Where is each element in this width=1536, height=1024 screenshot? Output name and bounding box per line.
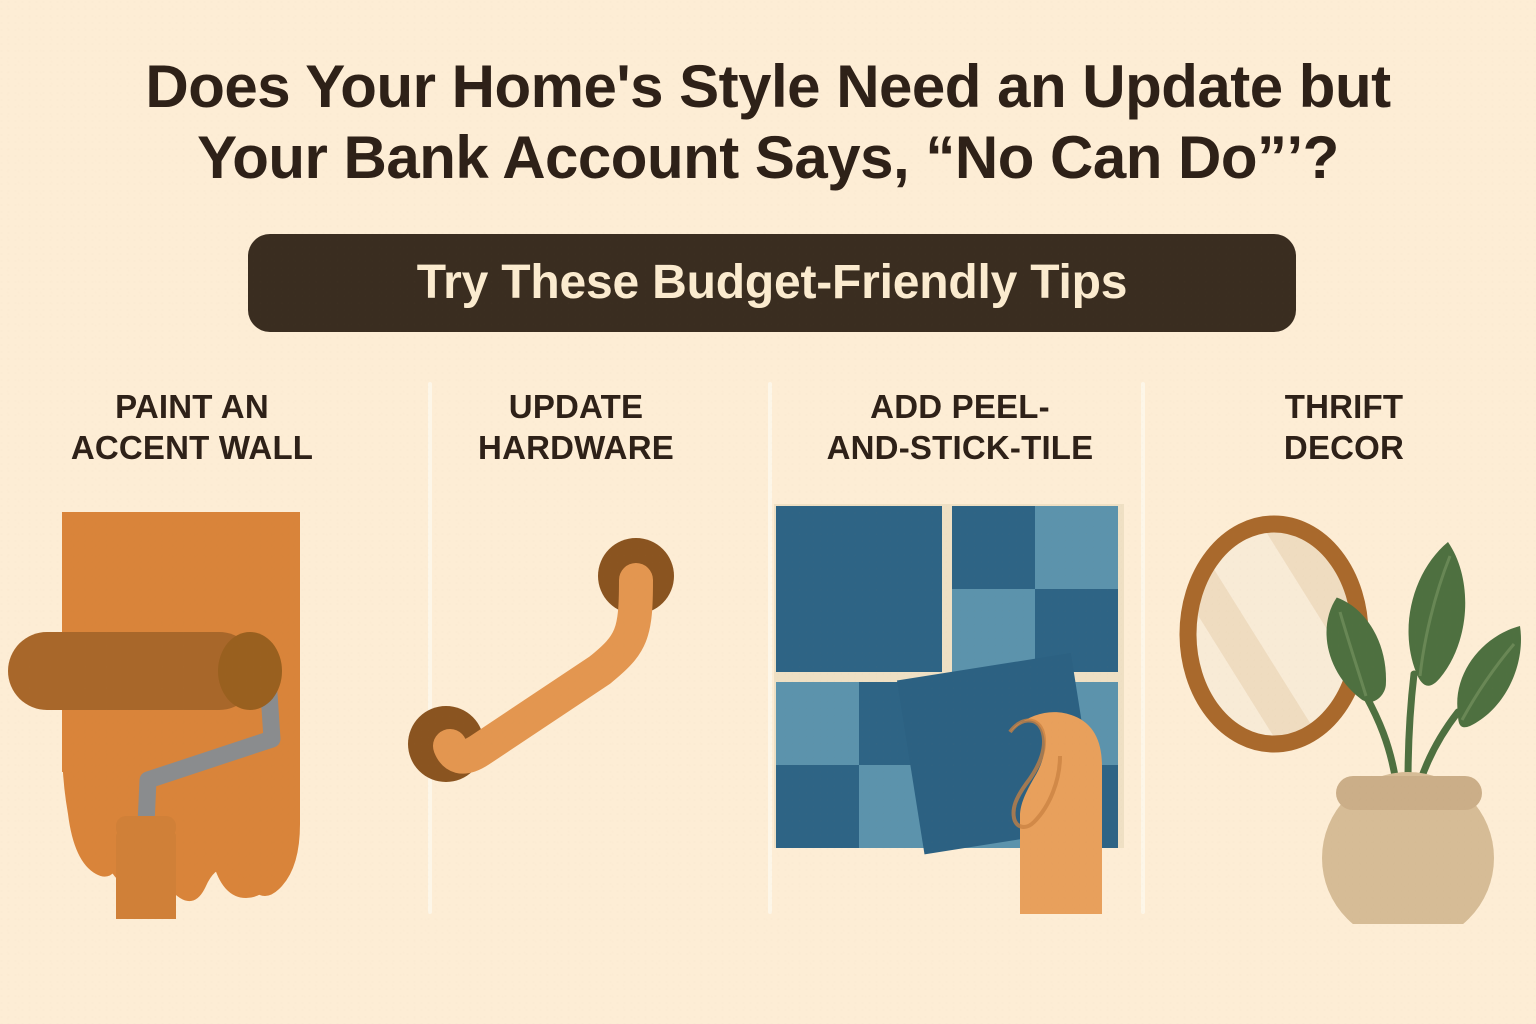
paint-roller-icon bbox=[0, 494, 384, 924]
tip-title-update-hardware: UPDATE HARDWARE bbox=[384, 386, 768, 469]
tips-row: PAINT AN ACCENT WALL bbox=[0, 376, 1536, 936]
infographic-poster: Does Your Home's Style Need an Update bu… bbox=[0, 0, 1536, 1024]
tip-title-thrift-decor: THRIFT DECOR bbox=[1152, 386, 1536, 469]
headline-line-1: Does Your Home's Style Need an Update bu… bbox=[60, 52, 1476, 123]
tip-title-paint-accent-wall: PAINT AN ACCENT WALL bbox=[0, 386, 384, 469]
peel-and-stick-tile-icon bbox=[768, 494, 1152, 924]
tip-column-paint-accent-wall: PAINT AN ACCENT WALL bbox=[0, 376, 384, 936]
tip-title-line-1: ADD PEEL- bbox=[774, 386, 1146, 427]
tip-column-update-hardware: UPDATE HARDWARE bbox=[384, 376, 768, 936]
tip-title-line-1: UPDATE bbox=[390, 386, 762, 427]
mirror-and-plant-icon bbox=[1152, 494, 1536, 924]
cabinet-pull-handle-icon bbox=[384, 494, 768, 924]
tip-title-peel-and-stick-tile: ADD PEEL- AND-STICK-TILE bbox=[768, 386, 1152, 469]
tip-title-line-2: ACCENT WALL bbox=[6, 427, 378, 468]
page-title: Does Your Home's Style Need an Update bu… bbox=[0, 52, 1536, 194]
subtitle-banner-text: Try These Budget-Friendly Tips bbox=[417, 259, 1128, 307]
tip-column-peel-and-stick-tile: ADD PEEL- AND-STICK-TILE bbox=[768, 376, 1152, 936]
tip-title-line-2: DECOR bbox=[1158, 427, 1530, 468]
tip-title-line-2: AND-STICK-TILE bbox=[774, 427, 1146, 468]
tip-title-line-2: HARDWARE bbox=[390, 427, 762, 468]
tip-column-thrift-decor: THRIFT DECOR bbox=[1152, 376, 1536, 936]
tip-title-line-1: THRIFT bbox=[1158, 386, 1530, 427]
headline-line-2: Your Bank Account Says, “No Can Do”’? bbox=[60, 123, 1476, 194]
tip-title-line-1: PAINT AN bbox=[6, 386, 378, 427]
subtitle-banner: Try These Budget-Friendly Tips bbox=[248, 234, 1296, 332]
